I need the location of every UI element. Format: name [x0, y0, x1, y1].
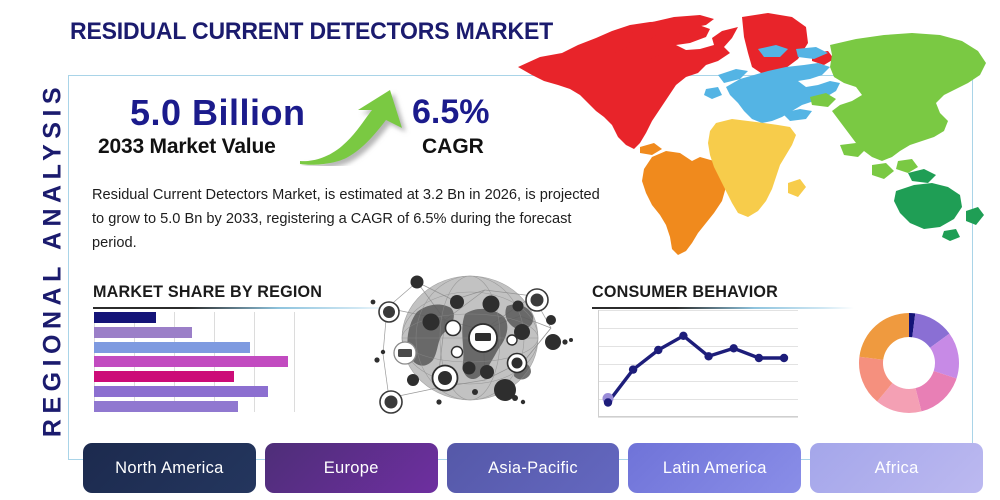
region-button-africa[interactable]: Africa: [810, 443, 983, 493]
line-point-7: [755, 354, 763, 362]
region-button-north-america[interactable]: North America: [83, 443, 256, 493]
header-rule: [592, 307, 854, 309]
bar-4: [94, 356, 288, 367]
bar-chart-bars: [94, 312, 294, 412]
gridline: [598, 417, 798, 418]
bar-1: [94, 312, 156, 323]
bar-chart-row: [94, 342, 294, 353]
region-button-label: Asia-Pacific: [488, 459, 578, 478]
bar-7: [94, 401, 238, 412]
region-button-label: Africa: [875, 459, 919, 478]
bar-chart-row: [94, 401, 294, 412]
infographic-canvas: REGIONAL ANALYSIS RESIDUAL CURRENT DETEC…: [0, 0, 1000, 500]
region-button-label: Europe: [324, 459, 379, 478]
consumer-behavior-line-chart: [598, 310, 798, 417]
bar-chart-row: [94, 386, 294, 397]
region-button-latin-america[interactable]: Latin America: [628, 443, 801, 493]
market-share-bar-chart: [94, 312, 294, 412]
region-button-europe[interactable]: Europe: [265, 443, 438, 493]
up-trend-arrow-icon: [298, 88, 413, 166]
cagr-label: CAGR: [422, 135, 484, 159]
consumer-behavior-section-header: CONSUMER BEHAVIOR: [592, 282, 854, 309]
region-button-group[interactable]: North AmericaEuropeAsia-PacificLatin Ame…: [83, 443, 983, 493]
global-network-globe-icon: [365, 268, 575, 423]
donut-segment-4: [915, 371, 956, 411]
line-point-4: [679, 332, 687, 340]
bar-chart-row: [94, 356, 294, 367]
market-share-title: MARKET SHARE BY REGION: [93, 282, 378, 302]
region-button-asia-pacific[interactable]: Asia-Pacific: [447, 443, 620, 493]
consumer-behavior-title: CONSUMER BEHAVIOR: [592, 282, 841, 302]
cagr-figure: 6.5%: [412, 93, 490, 132]
region-button-label: North America: [115, 459, 223, 478]
bar-6: [94, 386, 268, 397]
header-rule: [93, 307, 393, 309]
line-point-5: [704, 352, 712, 360]
bar-3: [94, 342, 250, 353]
line-point-2: [629, 365, 637, 373]
line-point-3: [654, 346, 662, 354]
line-point-1: [604, 398, 612, 406]
line-point-8: [780, 354, 788, 362]
line-point-6: [730, 344, 738, 352]
kpi-block: 5.0 Billion 2033 Market Value 6.5% CAGR: [110, 92, 510, 168]
bar-5: [94, 371, 234, 382]
bar-2: [94, 327, 192, 338]
market-value-figure: 5.0 Billion: [130, 92, 306, 134]
segment-donut-chart: [857, 311, 961, 415]
world-map-icon: [500, 5, 990, 260]
page-title: RESIDUAL CURRENT DETECTORS MARKET: [70, 18, 553, 46]
market-share-section-header: MARKET SHARE BY REGION: [93, 282, 393, 309]
donut-segment-7: [859, 313, 909, 360]
bar-chart-row: [94, 327, 294, 338]
regional-analysis-side-label: REGIONAL ANALYSIS: [39, 65, 68, 455]
bar-chart-row: [94, 312, 294, 323]
bar-chart-row: [94, 371, 294, 382]
region-button-label: Latin America: [663, 459, 767, 478]
market-value-label: 2033 Market Value: [98, 135, 276, 159]
